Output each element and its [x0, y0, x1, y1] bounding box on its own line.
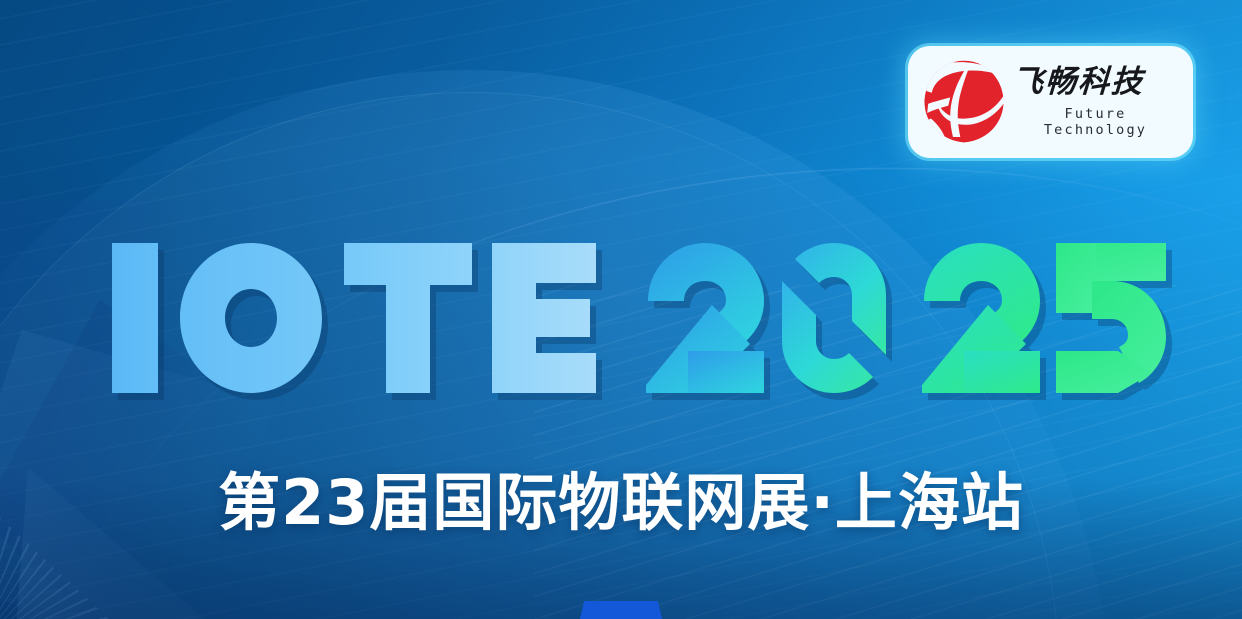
bottom-center-tab [580, 601, 662, 619]
sponsor-logo-badge[interactable]: 飞畅科技 Future Technology [908, 46, 1193, 158]
headline-letter-t [344, 243, 472, 393]
logo-wordmark: 飞畅科技 Future Technology [1012, 67, 1179, 138]
iote-2025-event-banner: 飞畅科技 Future Technology [0, 0, 1242, 619]
headline-iote-2025 [112, 243, 1166, 393]
feichang-emblem-icon [918, 56, 1010, 148]
headline-letter-e [492, 243, 596, 393]
headline-year-digit-0 [782, 243, 886, 393]
headline-letter-o [180, 243, 322, 393]
banner-subtitle: 第23届国际物联网展·上海站 [0, 452, 1242, 542]
logo-company-name-en: Future Technology [1012, 106, 1179, 138]
headline-letter-i [112, 243, 158, 393]
headline-year-digit-2b [922, 243, 1040, 393]
headline-year-digit-2a [646, 243, 764, 393]
logo-company-name-cn: 飞畅科技 [1011, 67, 1180, 98]
headline-year-digit-5 [1056, 243, 1166, 393]
